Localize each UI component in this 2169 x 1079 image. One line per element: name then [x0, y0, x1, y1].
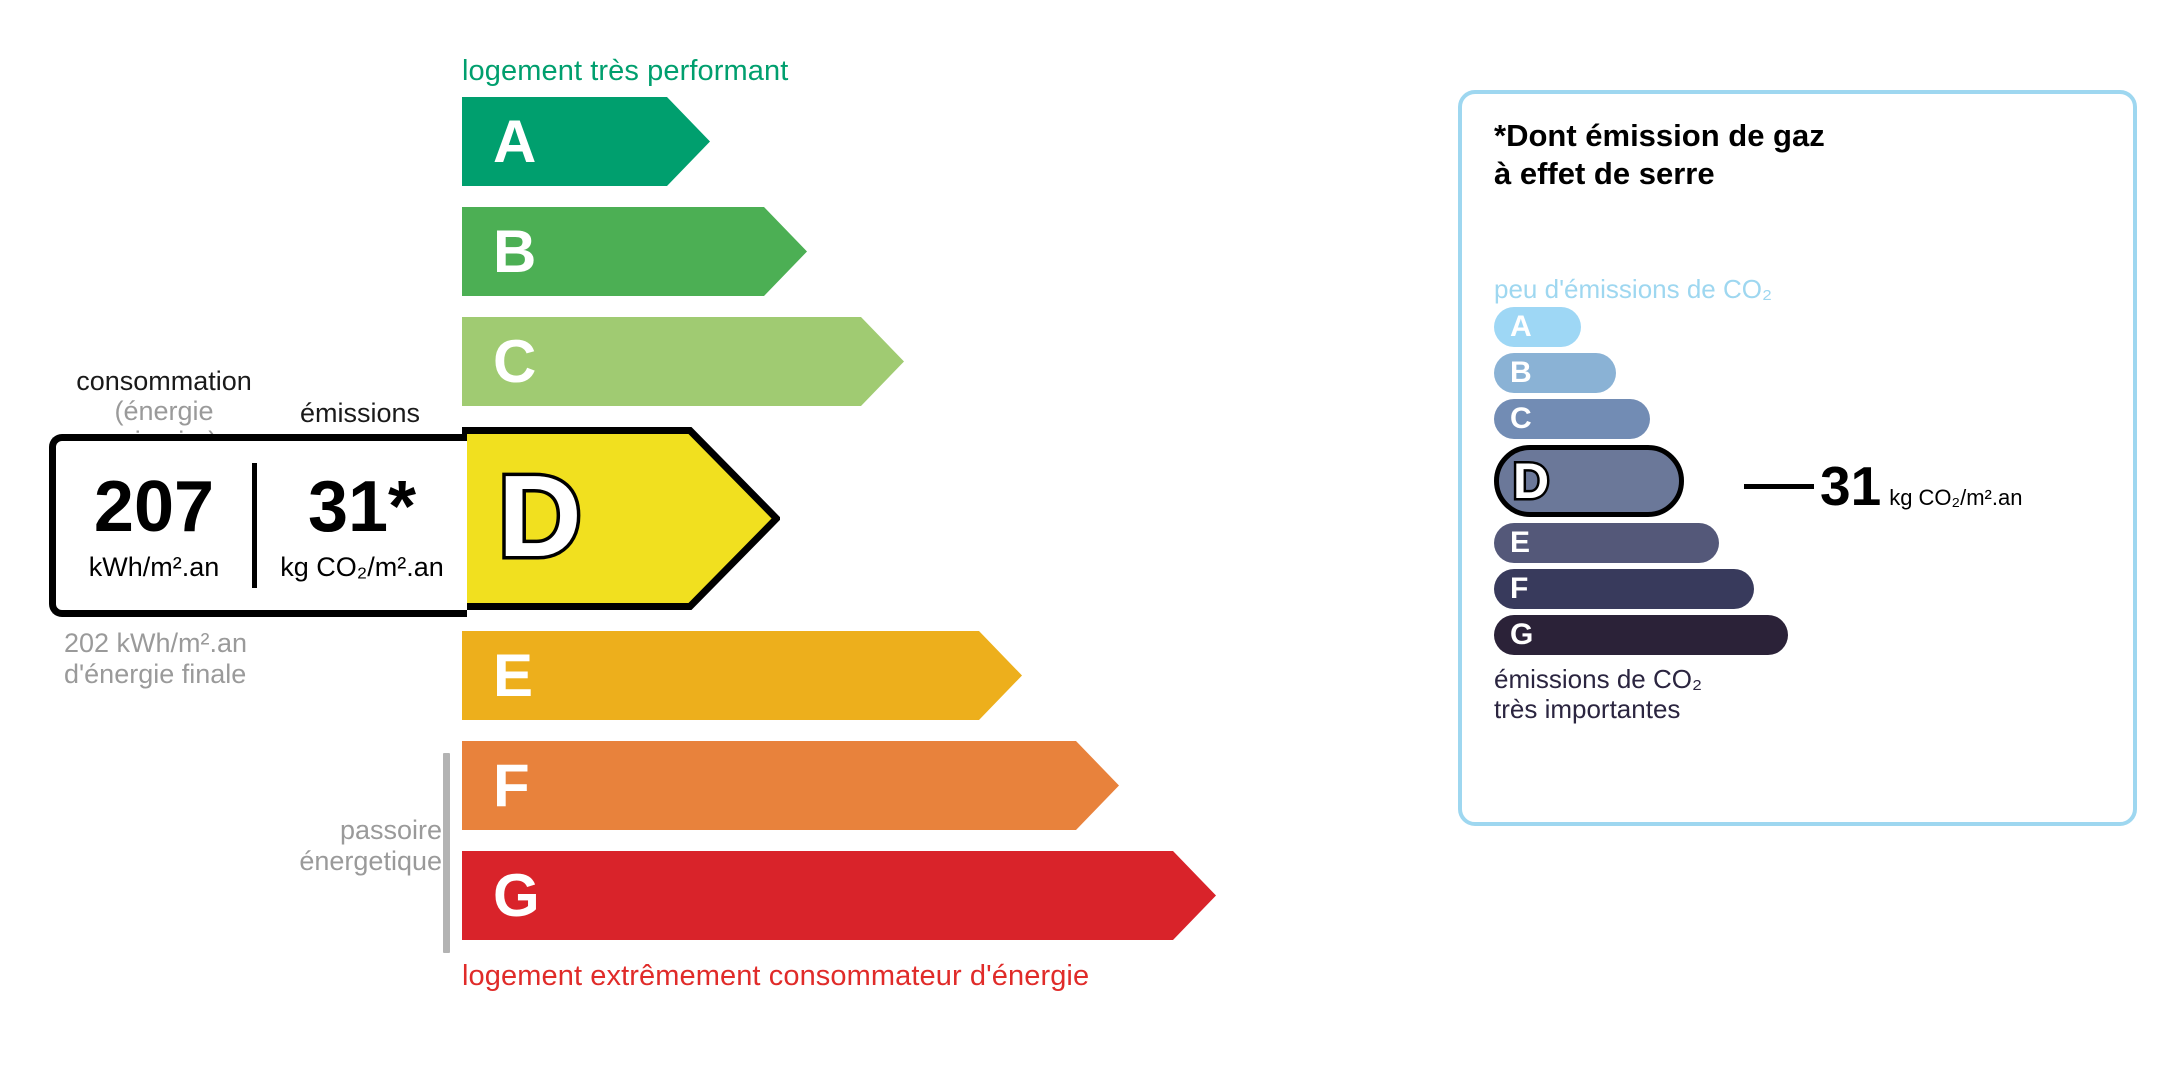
energy-arrow-f[interactable]: F — [462, 741, 1119, 830]
arrow-shape-icon — [462, 741, 1119, 830]
co2-class-letter: G — [1510, 620, 1533, 650]
energy-class-scale: A B C — [462, 97, 1262, 961]
co2-bar-b[interactable]: B — [1494, 353, 1616, 393]
emissions-value: 31* — [308, 471, 416, 543]
co2-panel-title: *Dont émission de gaz à effet de serre — [1494, 117, 1825, 193]
energy-arrow-b[interactable]: B — [462, 207, 807, 296]
value-box: 207 kWh/m².an 31* kg CO₂/m².an — [49, 434, 467, 617]
energy-class-letter: F — [493, 756, 530, 816]
passoire-line2: énergetique — [200, 846, 442, 877]
arrow-shape-icon — [462, 851, 1216, 940]
emissions-unit: kg CO₂/m².an — [280, 554, 444, 581]
energy-arrow-d-selected[interactable]: D — [462, 427, 780, 610]
final-energy-note: 202 kWh/m².an d'énergie finale — [64, 628, 247, 690]
co2-callout-unit: kg CO₂/m².an — [1889, 485, 2022, 511]
co2-top-caption: peu d'émissions de CO₂ — [1494, 274, 1772, 305]
dpe-label: logement très performant A B — [0, 0, 2169, 1079]
energy-class-letter: G — [493, 866, 540, 926]
final-energy-line1: 202 kWh/m².an — [64, 628, 247, 659]
co2-bar-d-selected[interactable]: D — [1494, 445, 1684, 517]
energy-class-letter: B — [493, 222, 536, 282]
energy-arrow-c[interactable]: C — [462, 317, 904, 406]
co2-class-row-a: A — [1494, 307, 2114, 347]
co2-bar-e[interactable]: E — [1494, 523, 1719, 563]
passoire-energetique-label: passoire énergetique — [200, 815, 442, 877]
energy-class-row-a: A — [462, 97, 1262, 186]
co2-bar-a[interactable]: A — [1494, 307, 1581, 347]
energy-class-letter: A — [493, 112, 536, 172]
energy-class-row-c: C — [462, 317, 1262, 406]
energy-arrow-a[interactable]: A — [462, 97, 710, 186]
passoire-bracket — [443, 753, 450, 953]
energy-class-row-f: F — [462, 741, 1262, 830]
co2-title-line2: à effet de serre — [1494, 155, 1825, 193]
co2-class-row-b: B — [1494, 353, 2114, 393]
energy-class-row-d: D — [462, 427, 1262, 610]
co2-bottom-caption-line2: très importantes — [1494, 694, 1702, 724]
co2-class-letter: F — [1510, 574, 1528, 604]
consumption-header-line1: consommation — [64, 366, 264, 396]
callout-leader-line — [1744, 484, 1814, 489]
energy-class-letter: C — [493, 332, 536, 392]
energy-class-row-g: G — [462, 851, 1262, 940]
co2-bar-c[interactable]: C — [1494, 399, 1650, 439]
co2-bottom-caption-line1: émissions de CO₂ — [1494, 664, 1702, 694]
energy-arrow-g[interactable]: G — [462, 851, 1216, 940]
co2-bar-f[interactable]: F — [1494, 569, 1754, 609]
co2-bottom-caption: émissions de CO₂ très importantes — [1494, 664, 1702, 725]
consumption-value-cell: 207 kWh/m².an — [56, 441, 252, 610]
energy-performance-panel: logement très performant A B — [0, 0, 1400, 1079]
co2-class-letter-selected: D — [1513, 456, 1549, 506]
consumption-unit: kWh/m².an — [89, 554, 220, 581]
emissions-header: émissions — [300, 398, 420, 428]
co2-callout-value: 31 — [1820, 459, 1881, 514]
consumption-value: 207 — [94, 471, 214, 543]
energy-class-letter-selected: D — [498, 458, 582, 574]
energy-class-letter: E — [493, 646, 533, 706]
co2-title-line1: *Dont émission de gaz — [1494, 117, 1825, 155]
energy-bottom-caption: logement extrêmement consommateur d'éner… — [462, 960, 1089, 993]
co2-bar-g[interactable]: G — [1494, 615, 1788, 655]
final-energy-line2: d'énergie finale — [64, 659, 247, 690]
co2-class-letter: E — [1510, 528, 1530, 558]
co2-emissions-panel: *Dont émission de gaz à effet de serre p… — [1458, 90, 2137, 826]
energy-class-row-b: B — [462, 207, 1262, 296]
co2-class-row-f: F — [1494, 569, 2114, 609]
co2-class-row-c: C — [1494, 399, 2114, 439]
energy-arrow-e[interactable]: E — [462, 631, 1022, 720]
arrow-shape-icon — [462, 631, 1022, 720]
energy-top-caption: logement très performant — [462, 55, 788, 88]
energy-class-row-e: E — [462, 631, 1262, 720]
co2-class-letter: B — [1510, 358, 1532, 388]
co2-class-letter: A — [1510, 312, 1532, 342]
co2-class-letter: C — [1510, 404, 1532, 434]
co2-class-row-g: G — [1494, 615, 2114, 655]
passoire-line1: passoire — [200, 815, 442, 846]
emissions-value-cell: 31* kg CO₂/m².an — [257, 441, 467, 610]
co2-value-callout: 31 kg CO₂/m².an — [1744, 459, 2022, 514]
co2-class-row-e: E — [1494, 523, 2114, 563]
